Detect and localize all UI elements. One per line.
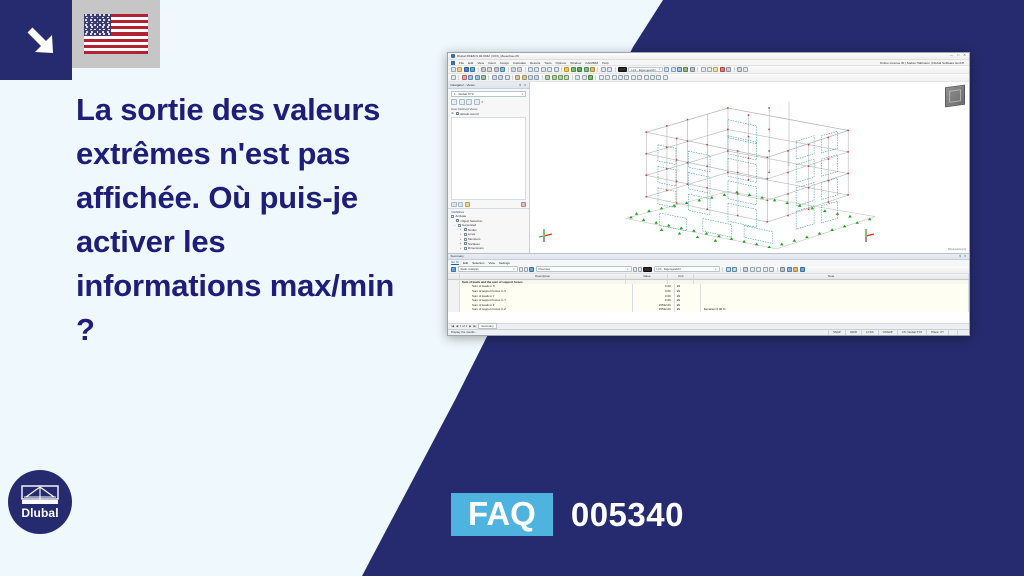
navigator-view-actions[interactable] [448,201,529,208]
select-circle-icon[interactable] [707,67,712,72]
mesh-icon[interactable] [599,75,604,80]
rfem-application-window: Dlubal RFEM 6.02.0042 | RC6_Mauerbau.rf6… [447,52,970,336]
tree-item-label: Nodes [468,228,477,232]
toolbar-separator [722,267,723,272]
dimension-icon[interactable] [575,75,580,80]
new-surface-icon[interactable] [492,75,497,80]
toolbar-separator [597,67,598,72]
status-spacer-1 [948,330,957,336]
model-viewport[interactable]: Dimensions [m] [530,82,969,253]
view-button-row[interactable]: ✕ [448,99,529,107]
pointer-icon[interactable] [743,67,748,72]
view-select-value: 1 - Global XYZ [454,92,474,96]
page-title: La sortie des valeurs extrêmes n'est pas… [76,88,416,352]
save-icon[interactable] [464,67,469,72]
close-icon[interactable]: ✕ [964,254,967,258]
toolbar-separator [777,267,778,272]
tree-item-label: Activate [456,214,467,218]
tree-item-label: Object Selection [461,219,483,223]
new-node-icon[interactable] [462,75,467,80]
status-right-group: SNAP GRID LCSS OSNAP CS: Global XYZ Plan… [828,330,966,336]
us-flag-badge [72,0,160,68]
report-icon[interactable] [793,267,798,272]
results-on-icon[interactable] [577,67,582,72]
analysis-type-icon[interactable] [451,267,456,272]
building-model-3d [530,82,969,253]
chevron-down-icon[interactable]: ▾ [522,93,523,96]
toolbar-separator [595,75,596,80]
navigator-panel: Navigator - Views ⚲ ✕ 1 - Global XYZ ▾ ✕… [448,82,530,253]
view-top-button[interactable] [459,99,465,105]
new-member-icon[interactable] [481,75,486,80]
status-toggle-grid[interactable]: GRID [845,330,861,336]
navigator-header: Navigator - Views ⚲ ✕ [448,82,529,89]
faq-number: 005340 [571,496,684,534]
chevron-down-icon[interactable]: ▾ [659,68,660,71]
next-table-icon[interactable] [524,267,528,272]
results-toolbar[interactable]: Static Analysis ▾ Overview ▾ LC1 - Eigen… [448,266,969,274]
status-coordinate-system: CS: Global XYZ [897,330,926,336]
toolbar-separator [512,75,513,80]
view-item-label: default-record [460,112,479,116]
toolbar-separator [458,75,459,80]
column-header-index [448,274,460,279]
zoom-extents-icon[interactable] [650,75,655,80]
display-props-icon[interactable] [547,67,552,72]
print-preview-icon[interactable] [487,67,492,72]
rotate-icon[interactable] [663,75,668,80]
copy-icon[interactable] [763,267,768,272]
menu-item-calculate[interactable]: Calculate [513,61,526,65]
dlubal-logo: Dlubal [8,470,72,534]
tree-item-label: Generated [462,223,476,227]
toolbar-separator [740,267,741,272]
chevron-down-icon[interactable]: ▾ [627,268,628,271]
nodal-load-icon[interactable] [545,75,550,80]
menu-item-options[interactable]: Options [556,61,567,65]
checkbox-icon[interactable] [464,242,467,245]
results-load-case-value: LC1 - Eigengewicht [657,267,681,271]
toolbar-separator [561,67,562,72]
results-menu-edit[interactable]: Edit [463,261,468,265]
toolbar-separator [478,67,479,72]
info-icon[interactable] [800,267,805,272]
coordinate-axes-icon [538,227,556,243]
close-button[interactable]: ✕ [963,54,966,57]
checkbox-icon[interactable] [451,215,454,218]
menu-item-assign[interactable]: Assign [500,61,509,65]
toolbar-separator [542,75,543,80]
refresh-icon[interactable] [732,267,737,272]
edit-view-icon[interactable] [458,202,464,207]
arrow-down-right-icon [22,22,62,62]
cell-note: Deviation 0.00 % [701,307,969,312]
user-views-tree: ⊞ default-record [448,112,529,117]
navigator-empty-area [451,117,526,200]
pan-icon[interactable] [656,75,661,80]
main-toolbar-row-2[interactable] [448,74,969,82]
dlubal-logo-text: Dlubal [21,506,58,520]
delete-red-icon[interactable] [720,67,725,72]
chevron-down-icon[interactable]: ▾ [715,268,716,271]
export-excel-icon[interactable] [756,267,761,272]
toolbar-separator [488,75,489,80]
extreme-values-icon[interactable] [743,267,748,272]
expand-icon[interactable]: + [459,233,462,236]
filter-prev-icon[interactable] [633,267,637,272]
prev-page-icon[interactable]: ◀ [456,324,458,328]
visibilities-tree: Activate Object Selection − Generated + … [448,214,529,253]
load-case-next-icon[interactable] [607,67,612,72]
menu-item-help[interactable]: Help [602,61,608,65]
filter-icon[interactable] [637,75,642,80]
navigator-header-controls[interactable]: ⚲ ✕ [519,83,527,87]
checkbox-icon[interactable] [456,219,459,222]
view-item-icon[interactable] [456,112,459,115]
warning-icon[interactable] [713,67,718,72]
toolbar-separator [525,67,526,72]
view-front-button[interactable] [451,99,457,105]
isoline-icon[interactable] [624,75,629,80]
status-toggle-osnap[interactable]: OSNAP [878,330,897,336]
menu-item-cadbim[interactable]: CAD/BIM [585,61,598,65]
column-header-description: Description [460,274,626,279]
status-plane: Plane: XY [926,330,948,336]
menu-item-results[interactable]: Results [530,61,540,65]
redo-icon[interactable] [517,67,522,72]
surface-support-icon[interactable] [534,75,539,80]
text-annotation-icon[interactable] [582,75,587,80]
tree-item-dimensions[interactable]: + Dimensions [451,246,526,251]
menu-item-window[interactable]: Window [570,61,581,65]
minimize-button[interactable]: — [950,54,953,57]
checkbox-icon[interactable] [464,228,467,231]
new-file-icon[interactable] [451,67,456,72]
expand-icon[interactable]: ⊞ [451,112,454,115]
tree-item-label: Surfaces [468,242,480,246]
collapse-icon[interactable]: − [453,224,456,227]
overview-icon[interactable] [529,267,534,272]
close-icon[interactable]: ✕ [524,83,527,87]
list-item[interactable]: ⊞ default-record [451,112,526,117]
column-header-value: Value [626,274,668,279]
expand-icon[interactable]: + [459,228,462,231]
surface-load-icon[interactable] [558,75,563,80]
new-opening-icon[interactable] [505,75,510,80]
wrench-icon[interactable] [787,267,792,272]
app-icon [451,54,455,58]
first-page-icon[interactable]: |◀ [451,324,454,328]
view-side-button[interactable] [466,99,472,105]
find-icon[interactable] [726,267,731,272]
apply-view-icon[interactable] [465,202,471,207]
column-header-unit: Unit [668,274,694,279]
new-view-icon[interactable] [451,202,457,207]
printout-report-icon[interactable] [494,67,499,72]
table-settings-icon[interactable] [780,267,785,272]
color-swatch-icon[interactable] [618,67,627,72]
maximize-button[interactable]: □ [957,54,959,57]
results-load-case-combobox[interactable]: LC1 - Eigengewicht ▾ [654,266,720,272]
undo-icon[interactable] [511,67,516,72]
column-header-note: Note [694,274,969,279]
grid-snap-icon[interactable] [554,67,559,72]
results-title: Summary [451,254,464,258]
results-menu-selection[interactable]: Selection [472,261,484,265]
pointer-select-icon[interactable] [451,75,456,80]
new-solid-icon[interactable] [498,75,503,80]
status-message: Display the results... [451,330,477,334]
results-summary-panel: Summary ⚲ ✕ Go To Edit Selection View Se… [448,253,969,329]
measure-icon[interactable] [701,67,706,72]
save-all-icon[interactable] [470,67,475,72]
menu-item-insert[interactable]: Insert [488,61,496,65]
new-arc-icon[interactable] [475,75,480,80]
deformation-icon[interactable] [612,75,617,80]
globe-icon[interactable] [677,67,682,72]
results-header-controls[interactable]: ⚲ ✕ [959,254,967,258]
tree-item-label: Lines [468,232,475,236]
analysis-type-value: Static Analysis [461,267,479,271]
license-info: Online License ID | Stefan Halfmann | Dl… [880,61,966,65]
menu-item-view[interactable]: View [477,61,484,65]
checkbox-icon[interactable] [464,238,467,241]
filter-next-icon[interactable] [638,267,642,272]
cell-index [448,307,460,312]
last-page-icon[interactable]: ▶| [473,324,476,328]
tree-item-label: Dimensions [468,246,484,250]
line-support-icon[interactable] [522,75,527,80]
cell-value: 19532.00 [633,307,675,312]
toolbar-separator [697,67,698,72]
print-icon[interactable] [481,67,486,72]
settings-gear-icon[interactable] [690,67,695,72]
lc-color-swatch-icon[interactable] [643,267,652,272]
check-green-icon[interactable] [588,75,593,80]
chevron-down-icon[interactable]: ▾ [513,268,514,271]
member-hinge-icon[interactable] [528,75,533,80]
toolbar-separator [508,67,509,72]
window-controls[interactable]: — □ ✕ [950,54,966,57]
calculate-icon[interactable] [564,67,569,72]
window-titlebar: Dlubal RFEM 6.02.0042 | RC6_Mauerbau.rf6… [448,53,969,60]
pager-label: 1 of 1 [460,324,467,328]
calculate-all-icon[interactable] [571,67,576,72]
next-page-icon[interactable]: ▶ [469,324,471,328]
prev-table-icon[interactable] [519,267,523,272]
workspace: Navigator - Views ⚲ ✕ 1 - Global XYZ ▾ ✕… [448,82,969,253]
render-wire-icon[interactable] [534,67,539,72]
window-title: Dlubal RFEM 6.02.0042 | RC6_Mauerbau.rf6 [457,54,519,58]
delete-view-icon[interactable] [521,202,527,207]
nodal-support-icon[interactable] [515,75,520,80]
table-icon[interactable] [644,75,649,80]
value-display-icon[interactable] [631,75,636,80]
coordinate-axes-secondary-icon [860,227,878,243]
status-spacer-2 [957,330,966,336]
results-menu-goto[interactable]: Go To [451,260,459,265]
results-menu-view[interactable]: View [488,261,494,265]
navigator-title: Navigator - Views [451,83,475,87]
column-settings-icon[interactable] [750,267,755,272]
viewport-scale-note: Dimensions [m] [948,248,966,251]
section-cut-icon[interactable] [618,75,623,80]
table-row[interactable]: Sum of support forces in Z 19532.00 kN D… [448,307,969,312]
model-check-icon[interactable] [683,67,688,72]
menu-item-edit[interactable]: Edit [468,61,473,65]
snapshot-icon[interactable] [726,67,731,72]
checkbox-icon[interactable] [464,247,467,250]
results-table[interactable]: Description Value Unit Note Sum of loads… [448,274,969,323]
pin-icon[interactable]: ⚲ [519,83,521,87]
status-bar: Display the results... SNAP GRID LCSS OS… [448,329,969,336]
menu-grip-icon [451,61,455,65]
export-icon[interactable] [500,67,505,72]
cell-description: Sum of support forces in Z [460,307,633,312]
table-select-value: Overview [539,267,551,271]
menu-item-file[interactable]: File [459,61,464,65]
load-case-combobox[interactable]: LC1 - Eigengewicht ▾ [628,67,663,73]
toolbar-separator [615,67,616,72]
load-case-value: LC1 - Eigengewicht [631,68,655,72]
faq-banner: FAQ 005340 [451,493,684,536]
render-transparent-icon[interactable] [541,67,546,72]
expand-icon[interactable]: + [459,238,462,241]
view-iso-button[interactable] [474,99,480,105]
main-toolbar-row-1[interactable]: LC1 - Eigengewicht ▾ [448,66,969,74]
expand-icon[interactable]: + [459,247,462,250]
view-delete-icon[interactable]: ✕ [481,100,484,104]
status-toggle-snap[interactable]: SNAP [828,330,845,336]
new-line-icon[interactable] [468,75,473,80]
view-cube-icon[interactable] [945,85,965,108]
pin-icon[interactable]: ⚲ [959,254,961,258]
render-solid-icon[interactable] [528,67,533,72]
analysis-type-combobox[interactable]: Static Analysis ▾ [458,266,518,272]
truss-frame-icon [21,485,59,505]
checkbox-icon[interactable] [464,233,467,236]
print-table-icon[interactable] [769,267,774,272]
cell-unit: kN [675,307,701,312]
camera-icon[interactable] [737,67,742,72]
results-table-icon[interactable] [584,67,589,72]
tree-item-label: Members [468,237,481,241]
render-shaded-icon[interactable] [671,67,676,72]
expand-icon[interactable]: + [459,242,462,245]
free-load-icon[interactable] [564,75,569,80]
toolbar-separator [734,67,735,72]
view-select[interactable]: 1 - Global XYZ ▾ [451,91,526,97]
edit-load-case-icon[interactable] [664,67,669,72]
member-load-icon[interactable] [552,75,557,80]
mesh-settings-icon[interactable] [605,75,610,80]
result-diagram-icon[interactable] [590,67,595,72]
checkbox-icon[interactable] [458,224,461,227]
us-flag-icon [84,14,148,54]
load-case-prev-icon[interactable] [601,67,606,72]
status-toggle-lcss[interactable]: LCSS [861,330,878,336]
menu-item-tools[interactable]: Tools [544,61,551,65]
open-file-icon[interactable] [457,67,462,72]
results-menu-settings[interactable]: Settings [499,261,510,265]
toolbar-separator [572,75,573,80]
table-select-combobox[interactable]: Overview ▾ [536,266,632,272]
faq-label-badge: FAQ [451,493,553,536]
